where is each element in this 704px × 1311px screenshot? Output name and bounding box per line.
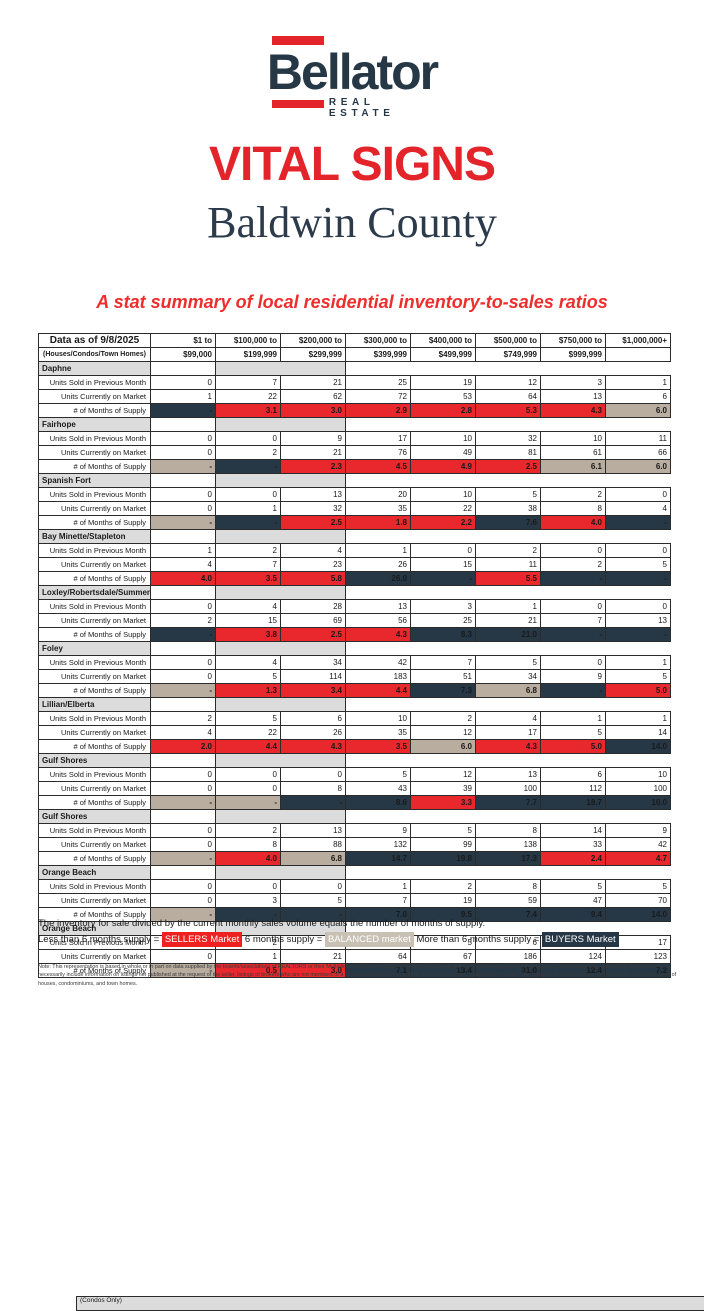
cell-market-10-4: 67 bbox=[411, 950, 476, 964]
cell-market-7-5: 100 bbox=[476, 782, 541, 796]
row-label-market: Units Currently on Market bbox=[39, 950, 151, 964]
cell-market-6-5: 17 bbox=[476, 726, 541, 740]
legend-definition: The inventory for sale divided by the cu… bbox=[38, 917, 683, 931]
cell-market-7-2: 8 bbox=[281, 782, 346, 796]
cell-market-10-1: 1 bbox=[216, 950, 281, 964]
table-row-sold: Units Sold in Previous Month0434427501 bbox=[39, 656, 671, 670]
cell-sold-3-0: 1 bbox=[151, 544, 216, 558]
row-label-supply: # of Months of Supply bbox=[39, 516, 151, 530]
table-row-sold: Units Sold in Previous Month0428133100 bbox=[39, 600, 671, 614]
cell-supply-4-4: 8.3 bbox=[411, 628, 476, 642]
cell-sold-7-7: 10 bbox=[606, 768, 671, 782]
cell-supply-0-4: 2.8 bbox=[411, 404, 476, 418]
table-row-sold: Units Sold in Previous Month00012855 bbox=[39, 880, 671, 894]
cell-supply-1-4: 4.9 bbox=[411, 460, 476, 474]
cell-sold-8-0: 0 bbox=[151, 824, 216, 838]
cell-supply-1-5: 2.5 bbox=[476, 460, 541, 474]
cell-market-7-6: 112 bbox=[541, 782, 606, 796]
cell-market-1-3: 76 bbox=[346, 446, 411, 460]
cell-sold-0-1: 7 bbox=[216, 376, 281, 390]
cell-supply-4-2: 2.5 bbox=[281, 628, 346, 642]
cell-market-2-7: 4 bbox=[606, 502, 671, 516]
cell-supply-8-7: 4.7 bbox=[606, 852, 671, 866]
cell-market-3-6: 2 bbox=[541, 558, 606, 572]
cell-market-1-1: 2 bbox=[216, 446, 281, 460]
cell-supply-3-1: 3.5 bbox=[216, 572, 281, 586]
cell-sold-4-7: 0 bbox=[606, 600, 671, 614]
row-label-sold: Units Sold in Previous Month bbox=[39, 432, 151, 446]
cell-sold-1-2: 9 bbox=[281, 432, 346, 446]
section-band-filler-5 bbox=[216, 642, 346, 656]
legend: The inventory for sale divided by the cu… bbox=[38, 917, 683, 947]
table-row-market: Units Currently on Market05114183513495 bbox=[39, 670, 671, 684]
cell-sold-1-7: 11 bbox=[606, 432, 671, 446]
page-title: VITAL SIGNS bbox=[0, 140, 704, 190]
cell-market-10-0: 0 bbox=[151, 950, 216, 964]
logo-wordmark: Bellator bbox=[267, 36, 437, 99]
cell-sold-4-4: 3 bbox=[411, 600, 476, 614]
cell-market-6-7: 14 bbox=[606, 726, 671, 740]
cell-sold-6-6: 1 bbox=[541, 712, 606, 726]
section-note-10: (Condos Only) bbox=[76, 1296, 704, 1311]
cell-supply-2-2: 2.5 bbox=[281, 516, 346, 530]
price-column-header-3: $300,000 to bbox=[346, 334, 411, 348]
cell-supply-7-1: - bbox=[216, 796, 281, 810]
cell-market-9-5: 59 bbox=[476, 894, 541, 908]
cell-supply-7-0: - bbox=[151, 796, 216, 810]
price-column-header-7: $1,000,000+ bbox=[606, 334, 671, 348]
cell-supply-3-7: - bbox=[606, 572, 671, 586]
table-row-supply: # of Months of Supply--2.51.82.27.64.0- bbox=[39, 516, 671, 530]
cell-sold-3-4: 0 bbox=[411, 544, 476, 558]
price-column-subheader-2: $299,999 bbox=[281, 348, 346, 362]
cell-market-9-2: 5 bbox=[281, 894, 346, 908]
cell-supply-1-2: 2.3 bbox=[281, 460, 346, 474]
cell-market-1-7: 66 bbox=[606, 446, 671, 460]
price-column-subheader-6: $999,999 bbox=[541, 348, 606, 362]
section-band: Loxley/Robertsdale/Summerdale bbox=[39, 586, 671, 600]
section-band-filler-0 bbox=[216, 362, 346, 376]
cell-sold-4-2: 28 bbox=[281, 600, 346, 614]
section-band-filler-3 bbox=[216, 530, 346, 544]
section-band: Gulf Shores(Homes Only) bbox=[39, 754, 671, 768]
row-label-market: Units Currently on Market bbox=[39, 614, 151, 628]
price-column-subheader-3: $399,999 bbox=[346, 348, 411, 362]
vital-signs-report: Bellator REAL ESTATE VITAL SIGNS Baldwin… bbox=[0, 0, 704, 1024]
cell-supply-6-7: 14.0 bbox=[606, 740, 671, 754]
row-label-sold: Units Sold in Previous Month bbox=[39, 656, 151, 670]
cell-sold-9-6: 5 bbox=[541, 880, 606, 894]
cell-market-4-3: 56 bbox=[346, 614, 411, 628]
cell-market-5-6: 9 bbox=[541, 670, 606, 684]
row-label-market: Units Currently on Market bbox=[39, 558, 151, 572]
disclaimer: Note: This representation is based in wh… bbox=[38, 963, 678, 988]
cell-market-7-3: 43 bbox=[346, 782, 411, 796]
cell-supply-3-3: 26.0 bbox=[346, 572, 411, 586]
section-name-7: Gulf Shores bbox=[39, 754, 151, 768]
cell-market-3-1: 7 bbox=[216, 558, 281, 572]
table-row-supply: # of Months of Supply-1.33.44.47.36.8-5.… bbox=[39, 684, 671, 698]
cell-market-4-4: 25 bbox=[411, 614, 476, 628]
cell-supply-4-7: - bbox=[606, 628, 671, 642]
row-label-market: Units Currently on Market bbox=[39, 726, 151, 740]
cell-supply-5-0: - bbox=[151, 684, 216, 698]
cell-market-9-3: 7 bbox=[346, 894, 411, 908]
cell-supply-1-7: 6.0 bbox=[606, 460, 671, 474]
cell-sold-0-0: 0 bbox=[151, 376, 216, 390]
cell-supply-5-7: 5.0 bbox=[606, 684, 671, 698]
cell-market-1-4: 49 bbox=[411, 446, 476, 460]
cell-market-0-6: 13 bbox=[541, 390, 606, 404]
cell-market-6-1: 22 bbox=[216, 726, 281, 740]
cell-market-0-3: 72 bbox=[346, 390, 411, 404]
row-label-market: Units Currently on Market bbox=[39, 446, 151, 460]
cell-sold-1-0: 0 bbox=[151, 432, 216, 446]
cell-supply-1-6: 6.1 bbox=[541, 460, 606, 474]
section-band-filler-8 bbox=[216, 810, 346, 824]
cell-market-1-6: 61 bbox=[541, 446, 606, 460]
row-label-supply: # of Months of Supply bbox=[39, 572, 151, 586]
cell-market-2-4: 22 bbox=[411, 502, 476, 516]
cell-market-7-4: 39 bbox=[411, 782, 476, 796]
cell-sold-3-3: 1 bbox=[346, 544, 411, 558]
section-band-filler-1 bbox=[216, 418, 346, 432]
cell-market-3-3: 26 bbox=[346, 558, 411, 572]
row-label-market: Units Currently on Market bbox=[39, 838, 151, 852]
section-band: Daphne bbox=[39, 362, 671, 376]
section-band-filler-6 bbox=[216, 698, 346, 712]
cell-market-3-4: 15 bbox=[411, 558, 476, 572]
table-row-supply: # of Months of Supply--2.34.54.92.56.16.… bbox=[39, 460, 671, 474]
cell-sold-4-0: 0 bbox=[151, 600, 216, 614]
table-header-row-bottom: (Houses/Condos/Town Homes)$99,000$199,99… bbox=[39, 348, 671, 362]
page-subtitle-county: Baldwin County bbox=[0, 198, 704, 248]
cell-supply-4-6: - bbox=[541, 628, 606, 642]
cell-sold-1-1: 0 bbox=[216, 432, 281, 446]
cell-market-8-3: 132 bbox=[346, 838, 411, 852]
price-column-subheader-5: $749,999 bbox=[476, 348, 541, 362]
cell-sold-3-5: 2 bbox=[476, 544, 541, 558]
cell-supply-2-6: 4.0 bbox=[541, 516, 606, 530]
section-name-4: Loxley/Robertsdale/Summerdale bbox=[39, 586, 151, 600]
cell-supply-0-5: 5.3 bbox=[476, 404, 541, 418]
row-label-sold: Units Sold in Previous Month bbox=[39, 544, 151, 558]
cell-supply-6-1: 4.4 bbox=[216, 740, 281, 754]
section-band: Orange Beach(Homes Only) bbox=[39, 866, 671, 880]
cell-supply-5-3: 4.4 bbox=[346, 684, 411, 698]
cell-supply-0-6: 4.3 bbox=[541, 404, 606, 418]
logo-tagline: REAL ESTATE bbox=[329, 97, 437, 119]
cell-market-3-0: 4 bbox=[151, 558, 216, 572]
section-band-filler-7 bbox=[216, 754, 346, 768]
section-band: Lillian/Elberta bbox=[39, 698, 671, 712]
table-row-supply: # of Months of Supply4.03.55.826.0-5.5-- bbox=[39, 572, 671, 586]
cell-market-4-7: 13 bbox=[606, 614, 671, 628]
row-label-market: Units Currently on Market bbox=[39, 894, 151, 908]
cell-supply-0-0: - bbox=[151, 404, 216, 418]
row-label-supply: # of Months of Supply bbox=[39, 404, 151, 418]
section-name-8: Gulf Shores bbox=[39, 810, 151, 824]
cell-sold-2-3: 20 bbox=[346, 488, 411, 502]
row-label-sold: Units Sold in Previous Month bbox=[39, 488, 151, 502]
price-column-header-1: $100,000 to bbox=[216, 334, 281, 348]
cell-sold-2-2: 13 bbox=[281, 488, 346, 502]
legend-sellers-chip: SELLERS Market bbox=[162, 932, 242, 947]
table-row-market: Units Currently on Market42226351217514 bbox=[39, 726, 671, 740]
stats-table: Data as of 9/8/2025$1 to$100,000 to$200,… bbox=[38, 333, 671, 978]
row-label-sold: Units Sold in Previous Month bbox=[39, 824, 151, 838]
row-label-market: Units Currently on Market bbox=[39, 390, 151, 404]
cell-supply-5-5: 6.8 bbox=[476, 684, 541, 698]
cell-supply-7-6: 18.7 bbox=[541, 796, 606, 810]
price-column-subheader-4: $499,999 bbox=[411, 348, 476, 362]
cell-supply-0-1: 3.1 bbox=[216, 404, 281, 418]
cell-market-5-2: 114 bbox=[281, 670, 346, 684]
table-row-market: Units Currently on Market013235223884 bbox=[39, 502, 671, 516]
cell-supply-6-0: 2.0 bbox=[151, 740, 216, 754]
table-row-sold: Units Sold in Previous Month009171032101… bbox=[39, 432, 671, 446]
cell-sold-8-3: 9 bbox=[346, 824, 411, 838]
cell-sold-9-0: 0 bbox=[151, 880, 216, 894]
cell-market-10-6: 124 bbox=[541, 950, 606, 964]
cell-sold-4-1: 4 bbox=[216, 600, 281, 614]
cell-market-8-4: 99 bbox=[411, 838, 476, 852]
cell-supply-8-0: - bbox=[151, 852, 216, 866]
cell-supply-0-3: 2.9 bbox=[346, 404, 411, 418]
legend-mid: 6 months supply = bbox=[242, 934, 325, 945]
cell-market-1-5: 81 bbox=[476, 446, 541, 460]
cell-sold-7-4: 12 bbox=[411, 768, 476, 782]
cell-supply-7-7: 10.0 bbox=[606, 796, 671, 810]
price-column-header-6: $750,000 to bbox=[541, 334, 606, 348]
table-row-market: Units Currently on Market088813299138334… bbox=[39, 838, 671, 852]
cell-supply-6-5: 4.3 bbox=[476, 740, 541, 754]
row-label-sold: Units Sold in Previous Month bbox=[39, 712, 151, 726]
cell-sold-5-2: 34 bbox=[281, 656, 346, 670]
price-column-header-5: $500,000 to bbox=[476, 334, 541, 348]
table-corner-title: Data as of 9/8/2025 bbox=[39, 334, 151, 348]
table-row-market: Units Currently on Market472326151125 bbox=[39, 558, 671, 572]
cell-sold-1-6: 10 bbox=[541, 432, 606, 446]
cell-supply-3-2: 5.8 bbox=[281, 572, 346, 586]
cell-market-4-2: 69 bbox=[281, 614, 346, 628]
cell-sold-2-0: 0 bbox=[151, 488, 216, 502]
cell-sold-5-4: 7 bbox=[411, 656, 476, 670]
cell-supply-2-7: - bbox=[606, 516, 671, 530]
cell-market-8-1: 8 bbox=[216, 838, 281, 852]
cell-supply-8-5: 17.3 bbox=[476, 852, 541, 866]
cell-sold-5-3: 42 bbox=[346, 656, 411, 670]
section-band: Foley bbox=[39, 642, 671, 656]
cell-market-4-1: 15 bbox=[216, 614, 281, 628]
cell-sold-0-5: 12 bbox=[476, 376, 541, 390]
cell-sold-2-5: 5 bbox=[476, 488, 541, 502]
cell-sold-5-1: 4 bbox=[216, 656, 281, 670]
cell-supply-3-6: - bbox=[541, 572, 606, 586]
cell-sold-9-3: 1 bbox=[346, 880, 411, 894]
cell-market-0-5: 64 bbox=[476, 390, 541, 404]
cell-market-3-7: 5 bbox=[606, 558, 671, 572]
table-row-sold: Units Sold in Previous Month12410200 bbox=[39, 544, 671, 558]
table-row-market: Units Currently on Market035719594770 bbox=[39, 894, 671, 908]
cell-supply-4-3: 4.3 bbox=[346, 628, 411, 642]
cell-sold-7-2: 0 bbox=[281, 768, 346, 782]
cell-sold-7-5: 13 bbox=[476, 768, 541, 782]
cell-sold-7-0: 0 bbox=[151, 768, 216, 782]
table-row-supply: # of Months of Supply-3.13.02.92.85.34.3… bbox=[39, 404, 671, 418]
cell-supply-5-4: 7.3 bbox=[411, 684, 476, 698]
legend-prefix: Less than 6 months supply = bbox=[38, 934, 162, 945]
row-label-supply: # of Months of Supply bbox=[39, 684, 151, 698]
table-row-supply: # of Months of Supply---8.63.37.718.710.… bbox=[39, 796, 671, 810]
table-row-sold: Units Sold in Previous Month00132010520 bbox=[39, 488, 671, 502]
table-row-sold: Units Sold in Previous Month256102411 bbox=[39, 712, 671, 726]
cell-market-0-0: 1 bbox=[151, 390, 216, 404]
cell-supply-1-0: - bbox=[151, 460, 216, 474]
cell-sold-7-3: 5 bbox=[346, 768, 411, 782]
cell-market-2-3: 35 bbox=[346, 502, 411, 516]
cell-market-2-2: 32 bbox=[281, 502, 346, 516]
price-column-header-2: $200,000 to bbox=[281, 334, 346, 348]
row-label-sold: Units Sold in Previous Month bbox=[39, 376, 151, 390]
cell-sold-6-0: 2 bbox=[151, 712, 216, 726]
table-row-sold: Units Sold in Previous Month072125191231 bbox=[39, 376, 671, 390]
logo-bottom-bar bbox=[272, 100, 324, 108]
section-name-9: Orange Beach bbox=[39, 866, 151, 880]
cell-market-9-6: 47 bbox=[541, 894, 606, 908]
section-band-filler-2 bbox=[216, 474, 346, 488]
cell-market-4-5: 21 bbox=[476, 614, 541, 628]
cell-supply-4-5: 21.0 bbox=[476, 628, 541, 642]
row-label-supply: # of Months of Supply bbox=[39, 796, 151, 810]
cell-sold-3-6: 0 bbox=[541, 544, 606, 558]
cell-sold-2-7: 0 bbox=[606, 488, 671, 502]
legend-mid2: More than 6 months supply = bbox=[414, 934, 542, 945]
table-row-sold: Units Sold in Previous Month00051213610 bbox=[39, 768, 671, 782]
cell-supply-1-3: 4.5 bbox=[346, 460, 411, 474]
table-row-market: Units Currently on Market012164671861241… bbox=[39, 950, 671, 964]
section-band: Fairhope bbox=[39, 418, 671, 432]
cell-sold-0-4: 19 bbox=[411, 376, 476, 390]
cell-market-1-2: 21 bbox=[281, 446, 346, 460]
row-label-sold: Units Sold in Previous Month bbox=[39, 880, 151, 894]
cell-sold-8-7: 9 bbox=[606, 824, 671, 838]
logo-top-bar bbox=[272, 36, 324, 45]
cell-supply-6-2: 4.3 bbox=[281, 740, 346, 754]
table-row-market: Units Currently on Market02217649816166 bbox=[39, 446, 671, 460]
legend-buyers-chip: BUYERS Market bbox=[542, 932, 619, 947]
cell-market-8-7: 42 bbox=[606, 838, 671, 852]
cell-supply-2-4: 2.2 bbox=[411, 516, 476, 530]
cell-sold-2-6: 2 bbox=[541, 488, 606, 502]
cell-supply-2-0: - bbox=[151, 516, 216, 530]
cell-sold-1-4: 10 bbox=[411, 432, 476, 446]
legend-market-types: Less than 6 months supply = SELLERS Mark… bbox=[38, 932, 683, 947]
stats-table-body: Data as of 9/8/2025$1 to$100,000 to$200,… bbox=[39, 334, 671, 978]
price-column-subheader-7 bbox=[606, 348, 671, 362]
cell-sold-0-7: 1 bbox=[606, 376, 671, 390]
cell-sold-6-4: 2 bbox=[411, 712, 476, 726]
cell-supply-7-5: 7.7 bbox=[476, 796, 541, 810]
cell-market-10-3: 64 bbox=[346, 950, 411, 964]
row-label-supply: # of Months of Supply bbox=[39, 852, 151, 866]
cell-market-8-0: 0 bbox=[151, 838, 216, 852]
table-row-market: Units Currently on Market21569562521713 bbox=[39, 614, 671, 628]
table-row-supply: # of Months of Supply2.04.44.33.56.04.35… bbox=[39, 740, 671, 754]
cell-sold-0-6: 3 bbox=[541, 376, 606, 390]
cell-market-7-1: 0 bbox=[216, 782, 281, 796]
table-row-supply: # of Months of Supply-3.82.54.38.321.0-- bbox=[39, 628, 671, 642]
cell-sold-7-6: 6 bbox=[541, 768, 606, 782]
table-corner-subtitle: (Houses/Condos/Town Homes) bbox=[39, 348, 151, 362]
cell-sold-6-5: 4 bbox=[476, 712, 541, 726]
cell-market-3-5: 11 bbox=[476, 558, 541, 572]
cell-sold-4-6: 0 bbox=[541, 600, 606, 614]
row-label-market: Units Currently on Market bbox=[39, 782, 151, 796]
cell-sold-1-3: 17 bbox=[346, 432, 411, 446]
cell-market-8-5: 138 bbox=[476, 838, 541, 852]
table-row-market: Units Currently on Market008433910011210… bbox=[39, 782, 671, 796]
cell-market-2-0: 0 bbox=[151, 502, 216, 516]
cell-sold-7-1: 0 bbox=[216, 768, 281, 782]
section-band: Bay Minette/Stapleton bbox=[39, 530, 671, 544]
cell-market-2-1: 1 bbox=[216, 502, 281, 516]
cell-market-10-7: 123 bbox=[606, 950, 671, 964]
cell-market-5-1: 5 bbox=[216, 670, 281, 684]
cell-sold-9-5: 8 bbox=[476, 880, 541, 894]
cell-supply-4-0: - bbox=[151, 628, 216, 642]
cell-sold-5-0: 0 bbox=[151, 656, 216, 670]
cell-supply-3-0: 4.0 bbox=[151, 572, 216, 586]
table-row-supply: # of Months of Supply-4.06.814.719.817.3… bbox=[39, 852, 671, 866]
price-column-header-0: $1 to bbox=[151, 334, 216, 348]
cell-sold-8-5: 8 bbox=[476, 824, 541, 838]
cell-supply-5-1: 1.3 bbox=[216, 684, 281, 698]
cell-supply-8-1: 4.0 bbox=[216, 852, 281, 866]
cell-supply-2-3: 1.8 bbox=[346, 516, 411, 530]
cell-market-6-4: 12 bbox=[411, 726, 476, 740]
section-name-6: Lillian/Elberta bbox=[39, 698, 151, 712]
row-label-supply: # of Months of Supply bbox=[39, 740, 151, 754]
cell-market-5-7: 5 bbox=[606, 670, 671, 684]
cell-market-10-5: 186 bbox=[476, 950, 541, 964]
cell-market-9-7: 70 bbox=[606, 894, 671, 908]
section-band: Gulf Shores(Condos Only) bbox=[39, 810, 671, 824]
cell-market-4-6: 7 bbox=[541, 614, 606, 628]
table-row-sold: Units Sold in Previous Month0213958149 bbox=[39, 824, 671, 838]
section-name-0: Daphne bbox=[39, 362, 151, 376]
cell-sold-4-3: 13 bbox=[346, 600, 411, 614]
cell-sold-8-6: 14 bbox=[541, 824, 606, 838]
stats-table-wrapper: Data as of 9/8/2025$1 to$100,000 to$200,… bbox=[38, 333, 670, 978]
cell-supply-3-4: - bbox=[411, 572, 476, 586]
cell-sold-3-2: 4 bbox=[281, 544, 346, 558]
cell-sold-2-4: 10 bbox=[411, 488, 476, 502]
cell-market-5-5: 34 bbox=[476, 670, 541, 684]
cell-sold-6-3: 10 bbox=[346, 712, 411, 726]
cell-supply-4-1: 3.8 bbox=[216, 628, 281, 642]
row-label-sold: Units Sold in Previous Month bbox=[39, 768, 151, 782]
cell-supply-7-4: 3.3 bbox=[411, 796, 476, 810]
cell-supply-5-6: - bbox=[541, 684, 606, 698]
cell-market-6-3: 35 bbox=[346, 726, 411, 740]
cell-market-3-2: 23 bbox=[281, 558, 346, 572]
section-band: Spanish Fort bbox=[39, 474, 671, 488]
cell-supply-5-2: 3.4 bbox=[281, 684, 346, 698]
cell-sold-6-7: 1 bbox=[606, 712, 671, 726]
cell-sold-8-4: 5 bbox=[411, 824, 476, 838]
section-name-3: Bay Minette/Stapleton bbox=[39, 530, 151, 544]
